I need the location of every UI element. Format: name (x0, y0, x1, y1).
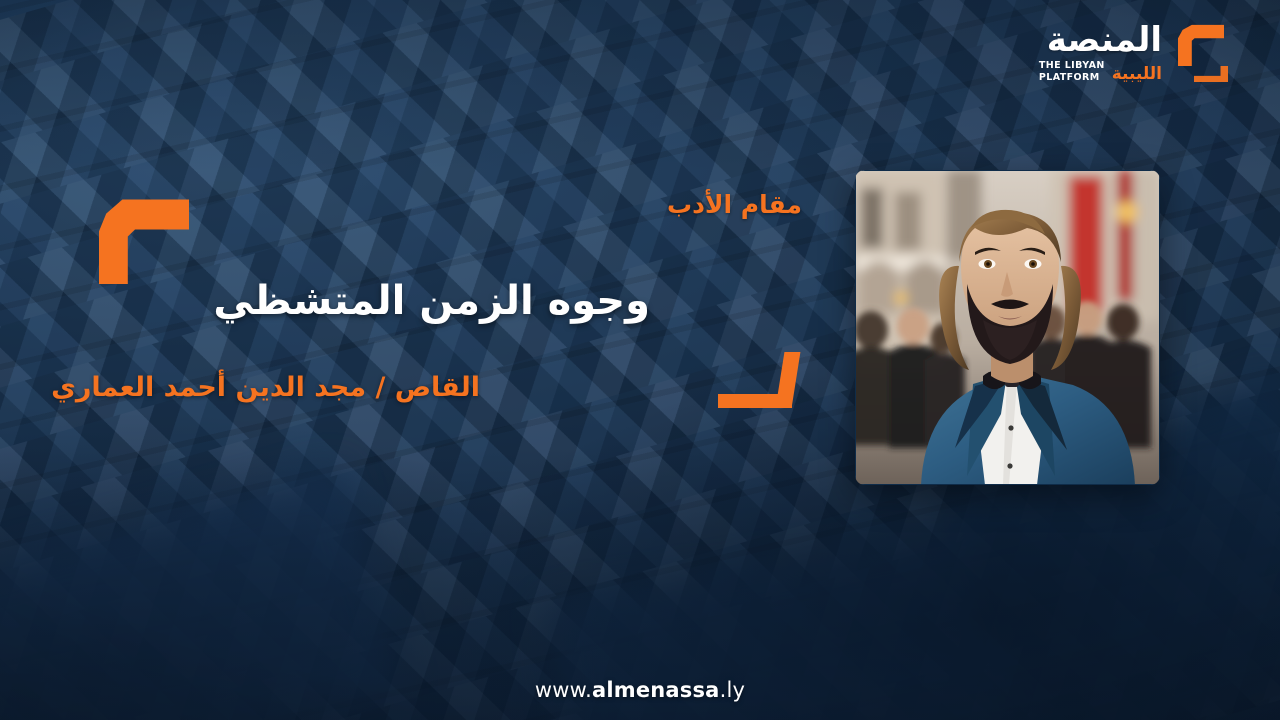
footer-website[interactable]: www.almenassa.ly (0, 678, 1280, 702)
brand-logo-text: المنصة THE LIBYAN PLATFORM الليبية (1039, 23, 1162, 83)
author-portrait-image (855, 170, 1160, 485)
poster-canvas: المنصة THE LIBYAN PLATFORM الليبية مقام … (0, 0, 1280, 720)
brand-name-english-line1: THE LIBYAN (1039, 60, 1105, 71)
author-portrait (855, 170, 1160, 485)
footer-url-brand: almenassa (592, 678, 720, 702)
brand-logo[interactable]: المنصة THE LIBYAN PLATFORM الليبية (1039, 22, 1232, 84)
decorative-corner-icon (718, 352, 796, 408)
brand-hook-mark-icon (1170, 22, 1232, 84)
page-title: وجوه الزمن المتشظي (213, 278, 650, 324)
brand-name-arabic-sub: الليبية (1112, 66, 1162, 83)
brand-sub-row: THE LIBYAN PLATFORM الليبية (1039, 60, 1162, 83)
author-byline: القاص / مجد الدين أحمد العماري (51, 372, 480, 403)
section-kicker: مقام الأدب (667, 190, 802, 219)
footer-url-prefix: www. (535, 678, 592, 702)
brand-name-arabic: المنصة (1047, 23, 1162, 57)
brand-name-english-line2: PLATFORM (1039, 72, 1100, 83)
footer-url-suffix: .ly (720, 678, 746, 702)
brand-name-english: THE LIBYAN PLATFORM (1039, 60, 1105, 83)
